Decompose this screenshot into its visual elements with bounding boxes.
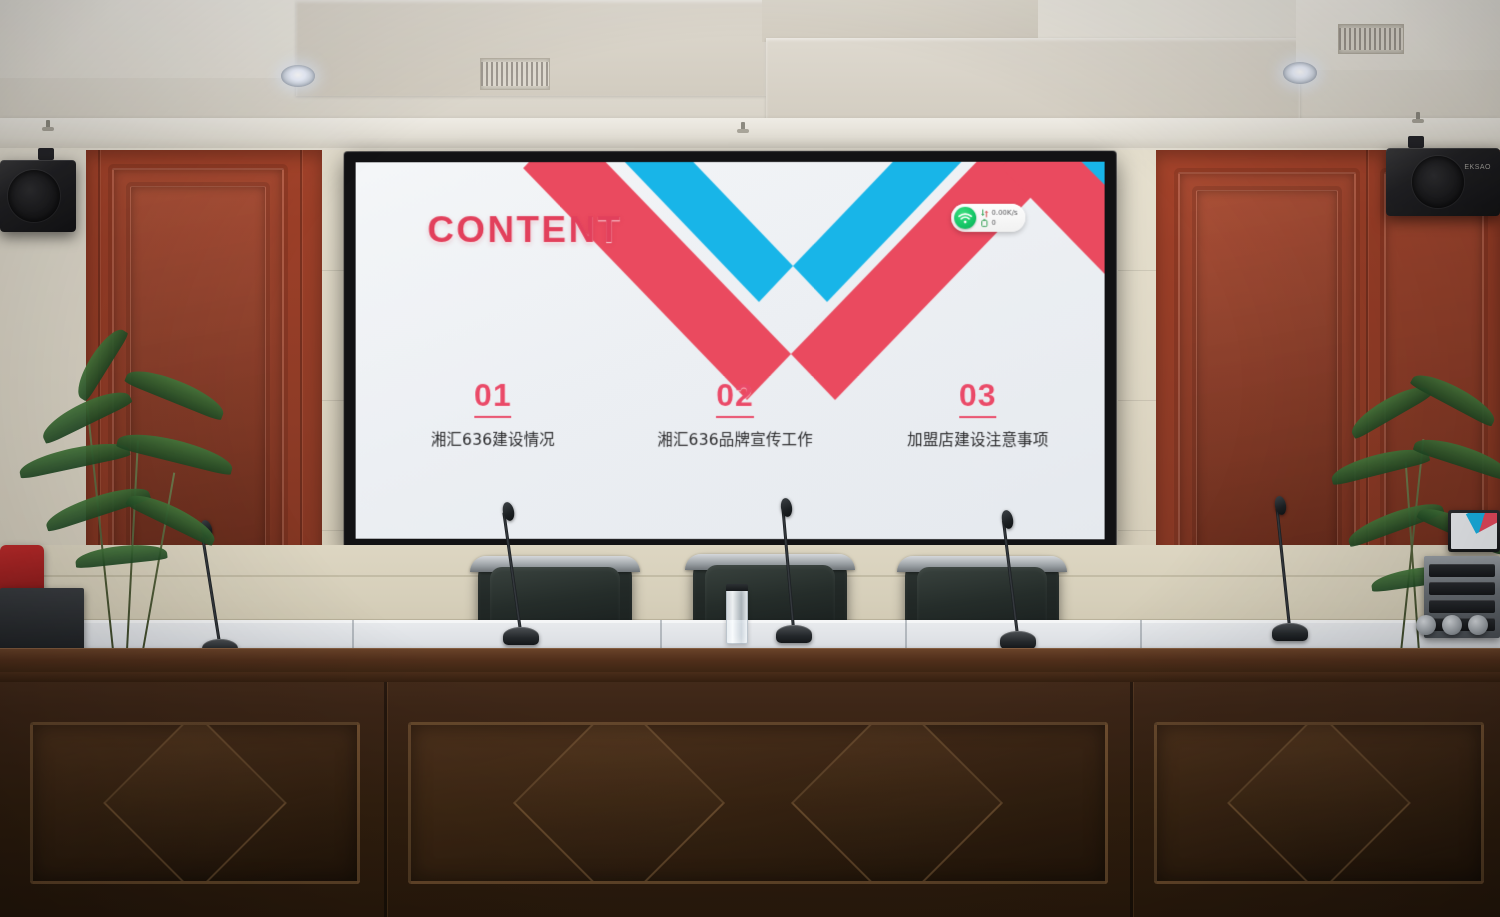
speaker-left <box>0 160 76 232</box>
table-front-panel <box>1154 722 1484 884</box>
air-vent-icon <box>480 58 550 90</box>
device-count-value: 0 <box>991 220 995 227</box>
wifi-icon <box>954 207 976 229</box>
conference-room-scene: EKSAO <box>0 0 1500 917</box>
ceiling <box>0 0 1500 152</box>
sprinkler-icon <box>42 120 54 134</box>
led-screen-frame: CONTENT <box>345 152 1116 551</box>
speaker-right: EKSAO <box>1386 148 1500 216</box>
item-number: 02 <box>716 379 754 418</box>
ceiling-recess <box>0 0 300 78</box>
content-item: 01 湘汇636建设情况 <box>389 379 596 451</box>
air-vent-icon <box>1338 24 1404 54</box>
water-bottle <box>726 588 748 644</box>
speaker-brand-label: EKSAO <box>1464 164 1491 171</box>
gooseneck-microphone[interactable] <box>994 514 1040 649</box>
sprinkler-icon <box>1412 112 1424 126</box>
gooseneck-microphone[interactable] <box>497 510 543 645</box>
control-knob[interactable] <box>1442 615 1462 635</box>
item-text: 加盟店建设注意事项 <box>874 429 1082 452</box>
upload-download-icon <box>981 209 988 218</box>
item-number: 01 <box>474 379 512 418</box>
gooseneck-microphone[interactable] <box>1266 506 1312 641</box>
network-speed-value: 0.00K/s <box>991 210 1017 217</box>
led-screen[interactable]: CONTENT <box>356 162 1105 540</box>
ceiling-panel <box>766 38 1300 128</box>
downlight-icon <box>281 65 315 87</box>
item-text: 湘汇636品牌宣传工作 <box>631 429 839 452</box>
speaker-bracket <box>38 148 54 160</box>
battery-icon <box>981 219 988 228</box>
sprinkler-icon <box>737 122 749 136</box>
table-front-panel <box>408 722 1108 884</box>
av-control-knobs[interactable] <box>1404 612 1500 638</box>
content-item: 03 加盟店建设注意事项 <box>874 379 1082 452</box>
item-text: 湘汇636建设情况 <box>389 429 596 452</box>
network-status-widget[interactable]: 0.00K/s 0 <box>951 204 1025 232</box>
av-laptop[interactable] <box>1448 510 1500 552</box>
content-items-list: 01 湘汇636建设情况 02 湘汇636品牌宣传工作 03 加盟店建设注意事项 <box>389 379 1082 452</box>
laptop-screen <box>1451 513 1497 549</box>
downlight-icon <box>1283 62 1317 84</box>
item-number: 03 <box>959 379 997 418</box>
left-equipment-cabinet <box>0 588 84 650</box>
red-chair <box>0 545 44 593</box>
conference-table-front <box>0 648 1500 917</box>
control-knob[interactable] <box>1468 615 1488 635</box>
presentation-slide: CONTENT <box>356 162 1105 540</box>
table-front-panel <box>30 722 360 884</box>
ceiling-recess <box>762 0 1038 42</box>
slide-title: CONTENT <box>427 209 622 251</box>
content-item: 02 湘汇636品牌宣传工作 <box>631 379 839 452</box>
control-knob[interactable] <box>1416 615 1436 635</box>
speaker-bracket <box>1408 136 1424 148</box>
gooseneck-microphone[interactable] <box>770 508 816 643</box>
